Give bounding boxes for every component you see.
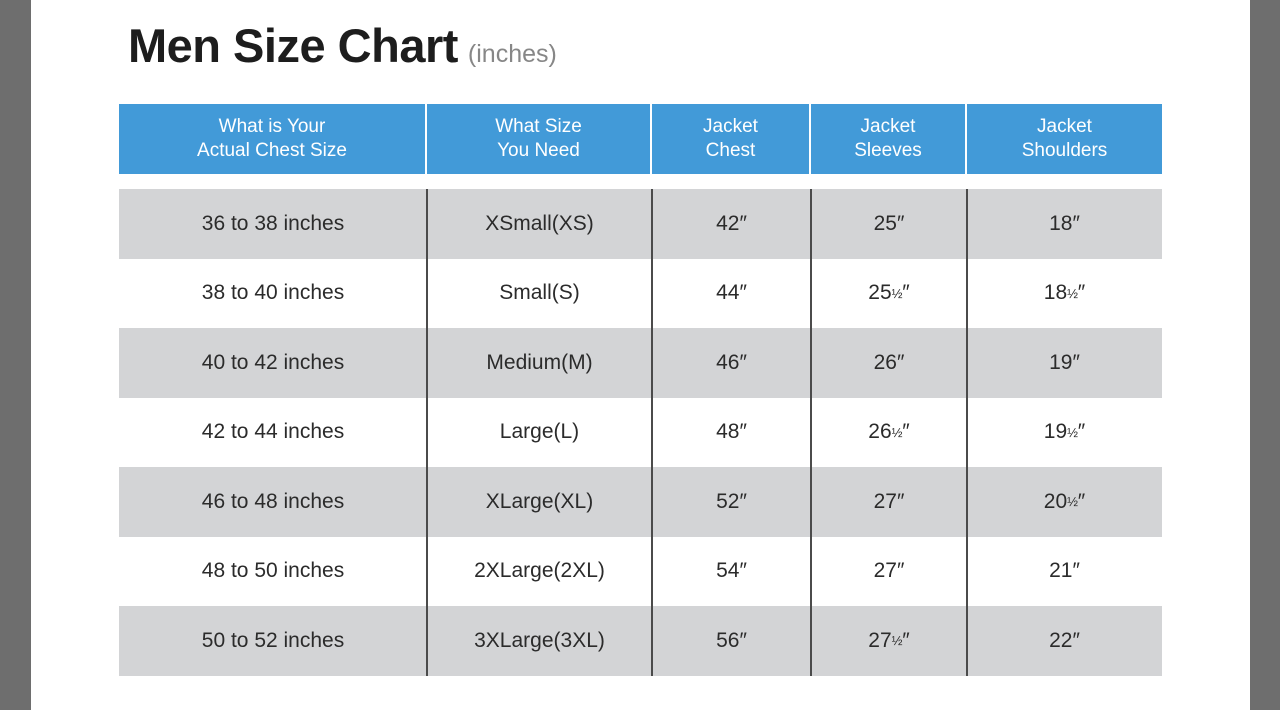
cell-jacket-shoulders: 20½″ bbox=[967, 467, 1162, 537]
title-main: Men Size Chart bbox=[128, 22, 458, 69]
cell-chest-range: 50 to 52 inches bbox=[119, 606, 427, 676]
header-line-2: Shoulders bbox=[1022, 139, 1108, 163]
page-title: Men Size Chart (inches) bbox=[128, 22, 557, 69]
cell-jacket-chest: 52″ bbox=[652, 467, 811, 537]
header-line-2: You Need bbox=[497, 139, 580, 163]
cell-jacket-sleeves: 26½″ bbox=[811, 398, 967, 468]
cell-size: Large(L) bbox=[427, 398, 652, 468]
cell-jacket-shoulders: 18½″ bbox=[967, 259, 1162, 329]
cell-chest-range: 40 to 42 inches bbox=[119, 328, 427, 398]
header-line-1: What is Your bbox=[219, 115, 326, 139]
table-row: 40 to 42 inchesMedium(M)46″26″19″ bbox=[119, 328, 1162, 398]
cell-size: XSmall(XS) bbox=[427, 189, 652, 259]
header-line-1: Jacket bbox=[1037, 115, 1092, 139]
cell-size: 3XLarge(3XL) bbox=[427, 606, 652, 676]
letterbox-bar-left bbox=[0, 0, 31, 710]
cell-jacket-sleeves: 27½″ bbox=[811, 606, 967, 676]
column-header-actual-chest-size: What is Your Actual Chest Size bbox=[119, 104, 427, 174]
table-row: 46 to 48 inchesXLarge(XL)52″27″20½″ bbox=[119, 467, 1162, 537]
table-row: 42 to 44 inchesLarge(L)48″26½″19½″ bbox=[119, 398, 1162, 468]
header-body-gap bbox=[119, 174, 1162, 189]
cell-jacket-chest: 48″ bbox=[652, 398, 811, 468]
header-line-2: Actual Chest Size bbox=[197, 139, 347, 163]
cell-jacket-shoulders: 18″ bbox=[967, 189, 1162, 259]
cell-jacket-chest: 44″ bbox=[652, 259, 811, 329]
table-row: 36 to 38 inchesXSmall(XS)42″25″18″ bbox=[119, 189, 1162, 259]
cell-jacket-shoulders: 19½″ bbox=[967, 398, 1162, 468]
table-row: 48 to 50 inches2XLarge(2XL)54″27″21″ bbox=[119, 537, 1162, 607]
table-body: 36 to 38 inchesXSmall(XS)42″25″18″38 to … bbox=[119, 189, 1162, 676]
header-line-1: Jacket bbox=[703, 115, 758, 139]
cell-jacket-chest: 42″ bbox=[652, 189, 811, 259]
cell-jacket-shoulders: 22″ bbox=[967, 606, 1162, 676]
cell-jacket-chest: 56″ bbox=[652, 606, 811, 676]
cell-chest-range: 36 to 38 inches bbox=[119, 189, 427, 259]
cell-chest-range: 38 to 40 inches bbox=[119, 259, 427, 329]
cell-size: Medium(M) bbox=[427, 328, 652, 398]
column-header-jacket-shoulders: Jacket Shoulders bbox=[967, 104, 1162, 174]
table-header-row: What is Your Actual Chest Size What Size… bbox=[119, 104, 1162, 174]
title-units: (inches) bbox=[468, 42, 557, 67]
cell-jacket-sleeves: 27″ bbox=[811, 537, 967, 607]
cell-jacket-sleeves: 25″ bbox=[811, 189, 967, 259]
size-table: What is Your Actual Chest Size What Size… bbox=[119, 104, 1162, 676]
cell-size: XLarge(XL) bbox=[427, 467, 652, 537]
cell-size: 2XLarge(2XL) bbox=[427, 537, 652, 607]
cell-jacket-chest: 46″ bbox=[652, 328, 811, 398]
table-row: 50 to 52 inches3XLarge(3XL)56″27½″22″ bbox=[119, 606, 1162, 676]
column-header-jacket-chest: Jacket Chest bbox=[652, 104, 811, 174]
column-header-jacket-sleeves: Jacket Sleeves bbox=[811, 104, 967, 174]
cell-chest-range: 46 to 48 inches bbox=[119, 467, 427, 537]
table-row: 38 to 40 inchesSmall(S)44″25½″18½″ bbox=[119, 259, 1162, 329]
cell-jacket-shoulders: 21″ bbox=[967, 537, 1162, 607]
letterbox-bar-right bbox=[1250, 0, 1280, 710]
cell-chest-range: 48 to 50 inches bbox=[119, 537, 427, 607]
chart-sheet: Men Size Chart (inches) What is Your Act… bbox=[31, 0, 1250, 710]
cell-jacket-shoulders: 19″ bbox=[967, 328, 1162, 398]
header-line-2: Chest bbox=[706, 139, 756, 163]
header-line-2: Sleeves bbox=[854, 139, 922, 163]
cell-jacket-chest: 54″ bbox=[652, 537, 811, 607]
cell-jacket-sleeves: 27″ bbox=[811, 467, 967, 537]
size-chart-image: Men Size Chart (inches) What is Your Act… bbox=[0, 0, 1280, 710]
column-header-size-you-need: What Size You Need bbox=[427, 104, 652, 174]
cell-jacket-sleeves: 26″ bbox=[811, 328, 967, 398]
header-line-1: What Size bbox=[495, 115, 582, 139]
cell-chest-range: 42 to 44 inches bbox=[119, 398, 427, 468]
cell-jacket-sleeves: 25½″ bbox=[811, 259, 967, 329]
header-line-1: Jacket bbox=[861, 115, 916, 139]
cell-size: Small(S) bbox=[427, 259, 652, 329]
